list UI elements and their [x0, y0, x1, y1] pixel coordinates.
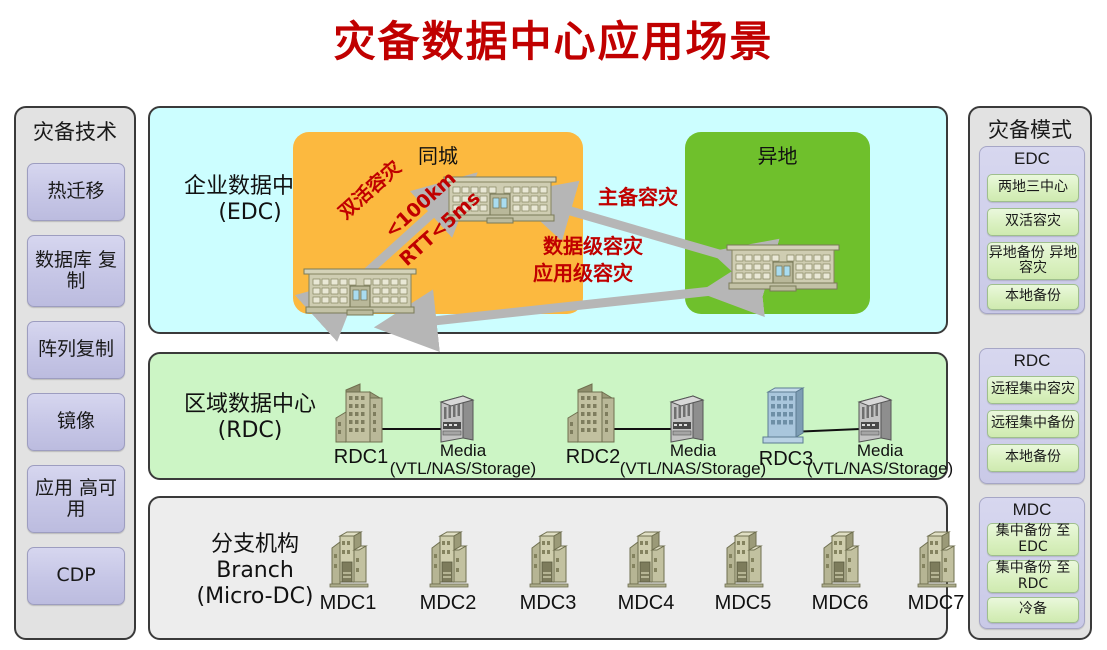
rdc3-media-server[interactable]	[857, 394, 895, 444]
mdc3-building[interactable]	[520, 532, 574, 590]
government-building-icon	[300, 260, 420, 320]
media-label: Media	[388, 442, 538, 460]
micro-dc-building-icon	[420, 532, 474, 590]
right-sidebar-title: 灾备模式	[970, 114, 1090, 144]
rdc2-media-caption: Media (VTL/NAS/Storage)	[618, 442, 768, 478]
mdc4-building[interactable]	[618, 532, 672, 590]
mode-item-label: 本地备份	[1005, 450, 1061, 465]
arrow-label-data-level: 数据级容灾	[543, 235, 643, 258]
mode-item-mdc-2[interactable]: 冷备	[987, 597, 1079, 623]
mdc5-caption: MDC5	[700, 592, 786, 615]
mode-item-mdc-1[interactable]: 集中备份 至RDC	[987, 560, 1079, 593]
disaster-recovery-tech-sidebar: 灾备技术 热迁移 数据库 复制 阵列复制 镜像 应用 高可用 CDP	[14, 106, 136, 640]
sidebar-item-label: 阵列复制	[38, 339, 114, 360]
mdc-row-panel: 分支机构 Branch (Micro-DC)	[148, 496, 948, 640]
mdc2-caption: MDC2	[405, 592, 491, 615]
micro-dc-building-icon	[908, 532, 962, 590]
office-tower-icon	[562, 384, 624, 446]
mdc7-caption: MDC7	[893, 592, 979, 615]
arrow-label-active-standby: 主备容灾	[598, 186, 678, 209]
zone-title: 同城	[293, 140, 583, 169]
mdc6-building[interactable]	[812, 532, 866, 590]
rdc2-media-server[interactable]	[669, 394, 707, 444]
mode-item-label: 远程集中备份	[991, 416, 1075, 431]
sidebar-item-label: CDP	[56, 565, 95, 586]
mode-item-label: 双活容灾	[1005, 214, 1061, 229]
sidebar-item-array-replication[interactable]: 阵列复制	[27, 321, 125, 379]
mode-group-title: EDC	[980, 149, 1084, 169]
media-server-icon	[669, 394, 707, 444]
edc-row-panel: 企业数据中心 (EDC) 同城 异地	[148, 106, 948, 334]
edc-building-tongcheng-secondary[interactable]	[300, 260, 420, 320]
media-server-icon	[857, 394, 895, 444]
mode-item-rdc-0[interactable]: 远程集中容灾	[987, 376, 1079, 404]
mode-group-title: RDC	[980, 351, 1084, 371]
sidebar-item-mirroring[interactable]: 镜像	[27, 393, 125, 451]
micro-dc-building-icon	[812, 532, 866, 590]
mdc3-caption: MDC3	[505, 592, 591, 615]
left-sidebar-title: 灾备技术	[16, 116, 134, 146]
mode-item-edc-2[interactable]: 异地备份 异地容灾	[987, 242, 1079, 280]
mode-item-label: 冷备	[1019, 602, 1047, 617]
edc-building-yidi[interactable]	[723, 236, 843, 296]
mode-group-title: MDC	[980, 500, 1084, 520]
mode-item-rdc-2[interactable]: 本地备份	[987, 444, 1079, 472]
mode-item-label: 本地备份	[1005, 289, 1061, 304]
mode-item-label: 异地备份 异地容灾	[988, 246, 1078, 277]
sidebar-item-db-replication[interactable]: 数据库 复制	[27, 235, 125, 307]
sidebar-item-app-ha[interactable]: 应用 高可用	[27, 465, 125, 533]
rdc-row-panel: 区域数据中心 (RDC)	[148, 352, 948, 480]
disaster-recovery-mode-sidebar: 灾备模式 EDC 两地三中心 双活容灾 异地备份 异地容灾 本地备份 RDC 远…	[968, 106, 1092, 640]
mode-item-label: 集中备份 至EDC	[988, 524, 1078, 555]
media-sublabel: (VTL/NAS/Storage)	[805, 460, 955, 478]
page-title: 灾备数据中心应用场景	[0, 8, 1107, 69]
mdc2-building[interactable]	[420, 532, 474, 590]
sidebar-item-label: 数据库 复制	[28, 250, 124, 293]
rdc1-building[interactable]	[330, 384, 392, 446]
mode-item-label: 两地三中心	[998, 180, 1068, 195]
micro-dc-building-icon	[618, 532, 672, 590]
mode-group-edc: EDC 两地三中心 双活容灾 异地备份 异地容灾 本地备份	[979, 146, 1085, 314]
micro-dc-building-icon	[520, 532, 574, 590]
rdc3-media-caption: Media (VTL/NAS/Storage)	[805, 442, 955, 478]
arrow-label-app-level: 应用级容灾	[533, 262, 633, 285]
office-tower-icon	[755, 387, 815, 445]
media-sublabel: (VTL/NAS/Storage)	[388, 460, 538, 478]
mode-group-rdc: RDC 远程集中容灾 远程集中备份 本地备份	[979, 348, 1085, 484]
mode-group-mdc: MDC 集中备份 至EDC 集中备份 至RDC 冷备	[979, 497, 1085, 629]
mdc4-caption: MDC4	[603, 592, 689, 615]
mode-item-edc-0[interactable]: 两地三中心	[987, 174, 1079, 202]
media-label: Media	[618, 442, 768, 460]
mdc7-building[interactable]	[908, 532, 962, 590]
sidebar-item-cdp[interactable]: CDP	[27, 547, 125, 605]
media-sublabel: (VTL/NAS/Storage)	[618, 460, 768, 478]
micro-dc-building-icon	[320, 532, 374, 590]
mode-item-edc-1[interactable]: 双活容灾	[987, 208, 1079, 236]
mdc5-building[interactable]	[715, 532, 769, 590]
office-tower-icon	[330, 384, 392, 446]
rdc1-media-caption: Media (VTL/NAS/Storage)	[388, 442, 538, 478]
media-server-icon	[439, 394, 477, 444]
sidebar-item-label: 镜像	[57, 411, 95, 432]
mode-item-edc-3[interactable]: 本地备份	[987, 284, 1079, 310]
sidebar-item-label: 应用 高可用	[28, 478, 124, 521]
micro-dc-building-icon	[715, 532, 769, 590]
rdc2-building[interactable]	[562, 384, 624, 446]
mdc1-building[interactable]	[320, 532, 374, 590]
mode-item-mdc-0[interactable]: 集中备份 至EDC	[987, 523, 1079, 556]
government-building-icon	[723, 236, 843, 296]
mdc6-caption: MDC6	[797, 592, 883, 615]
mode-item-label: 远程集中容灾	[991, 382, 1075, 397]
rdc1-media-server[interactable]	[439, 394, 477, 444]
media-label: Media	[805, 442, 955, 460]
sidebar-item-hot-migration[interactable]: 热迁移	[27, 163, 125, 221]
mdc1-caption: MDC1	[305, 592, 391, 615]
mode-item-rdc-1[interactable]: 远程集中备份	[987, 410, 1079, 438]
rdc1-caption: RDC1	[325, 446, 397, 469]
zone-title: 异地	[685, 140, 870, 169]
rdc3-building[interactable]	[755, 387, 815, 445]
sidebar-item-label: 热迁移	[47, 181, 104, 202]
mode-item-label: 集中备份 至RDC	[988, 561, 1078, 592]
